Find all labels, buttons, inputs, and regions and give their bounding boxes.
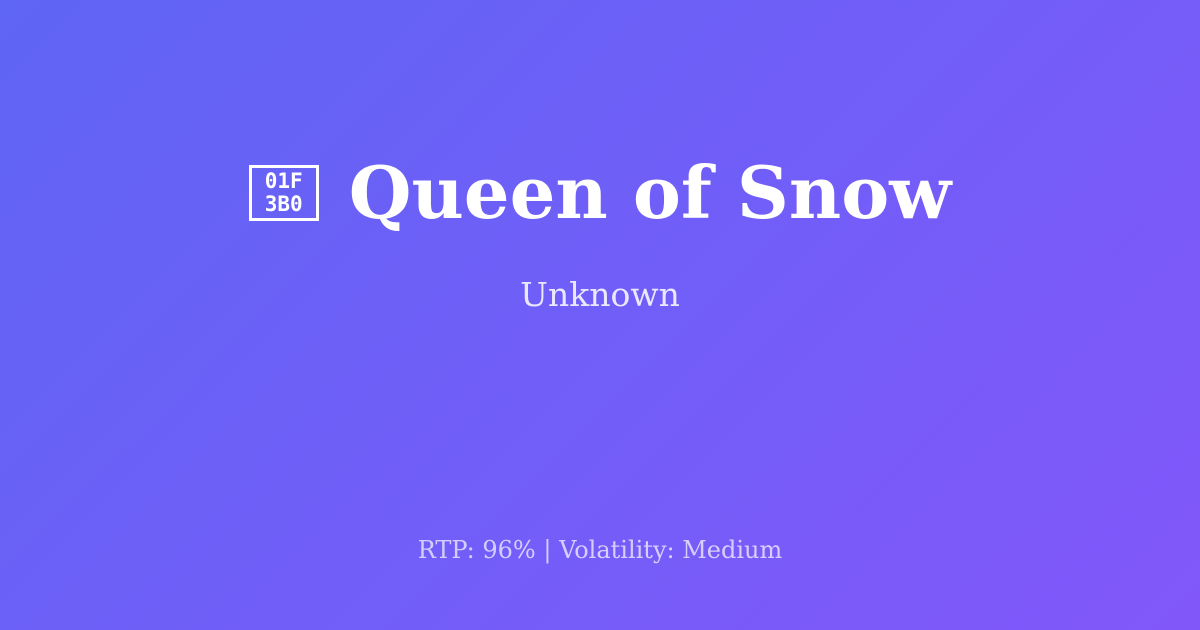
tofu-codepoint-row-top: 01F [265,170,303,193]
game-stats-line: RTP: 96% | Volatility: Medium [418,536,783,565]
footer-meta-bar: RTP: 96% | Volatility: Medium [0,470,1200,630]
slot-machine-icon: 01F 3B0 [249,165,319,221]
tofu-codepoint-row-bottom: 3B0 [265,193,303,216]
title-row: 01F 3B0 Queen of Snow [249,156,952,231]
og-share-card: 01F 3B0 Queen of Snow Unknown RTP: 96% |… [0,0,1200,630]
page-title: Queen of Snow [349,156,952,231]
provider-subtitle: Unknown [520,275,680,315]
hero-block: 01F 3B0 Queen of Snow Unknown [0,0,1200,470]
